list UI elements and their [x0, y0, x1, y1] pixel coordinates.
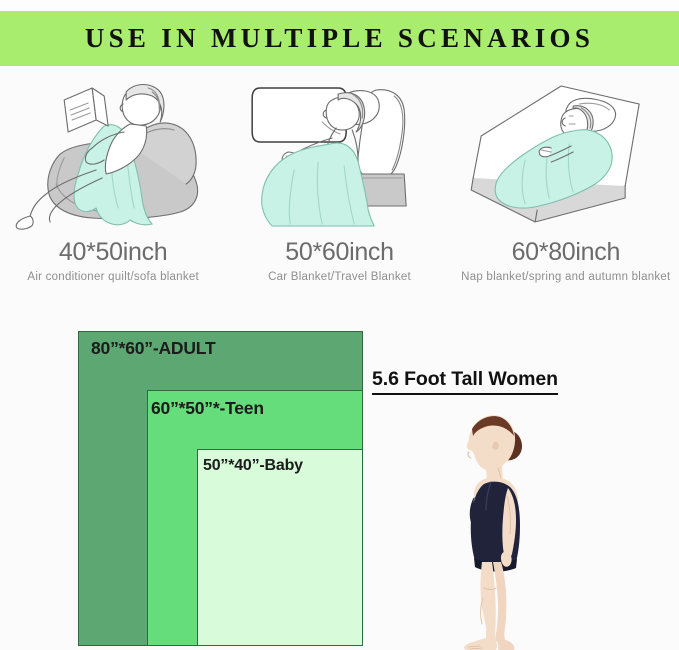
- scenario-item-sofa: 40*50inch Air conditioner quilt/sofa bla…: [0, 66, 226, 306]
- page-root: USE IN MULTIPLE SCENARIOS: [0, 0, 679, 650]
- person-reclining-in-car-seat-with-blanket-icon: [226, 66, 452, 241]
- scenario-item-car: 50*60inch Car Blanket/Travel Blanket: [226, 66, 452, 306]
- size-comparison-chart: 80”*60”-ADULT 60”*50”*-Teen 50”*40”-Baby…: [0, 306, 679, 650]
- scenario-size-label: 60*80inch: [512, 238, 621, 267]
- size-box-label-teen: 60”*50”*-Teen: [151, 398, 264, 419]
- scenario-use-case: Air conditioner quilt/sofa blanket: [27, 271, 199, 283]
- scenario-row: 40*50inch Air conditioner quilt/sofa bla…: [0, 66, 679, 306]
- size-box-baby: [197, 449, 363, 646]
- size-box-label-adult: 80”*60”-ADULT: [91, 338, 215, 359]
- size-box-label-baby: 50”*40”-Baby: [203, 457, 303, 475]
- reference-height-heading: 5.6 Foot Tall Women: [372, 368, 558, 395]
- scenario-use-case: Nap blanket/spring and autumn blanket: [461, 271, 670, 283]
- page-title: USE IN MULTIPLE SCENARIOS: [85, 23, 594, 54]
- person-sleeping-in-bed-with-blanket-icon: [453, 66, 679, 241]
- person-reading-on-beanbag-with-blanket-icon: [0, 66, 226, 241]
- scenario-item-bed: 60*80inch Nap blanket/spring and autumn …: [453, 66, 679, 306]
- scenario-size-label: 50*60inch: [285, 238, 394, 267]
- section-banner: USE IN MULTIPLE SCENARIOS: [0, 11, 679, 66]
- scenario-use-case: Car Blanket/Travel Blanket: [268, 271, 411, 283]
- standing-woman-profile-icon: [398, 402, 584, 650]
- top-margin-strip: [0, 0, 679, 11]
- scenario-size-label: 40*50inch: [59, 238, 168, 267]
